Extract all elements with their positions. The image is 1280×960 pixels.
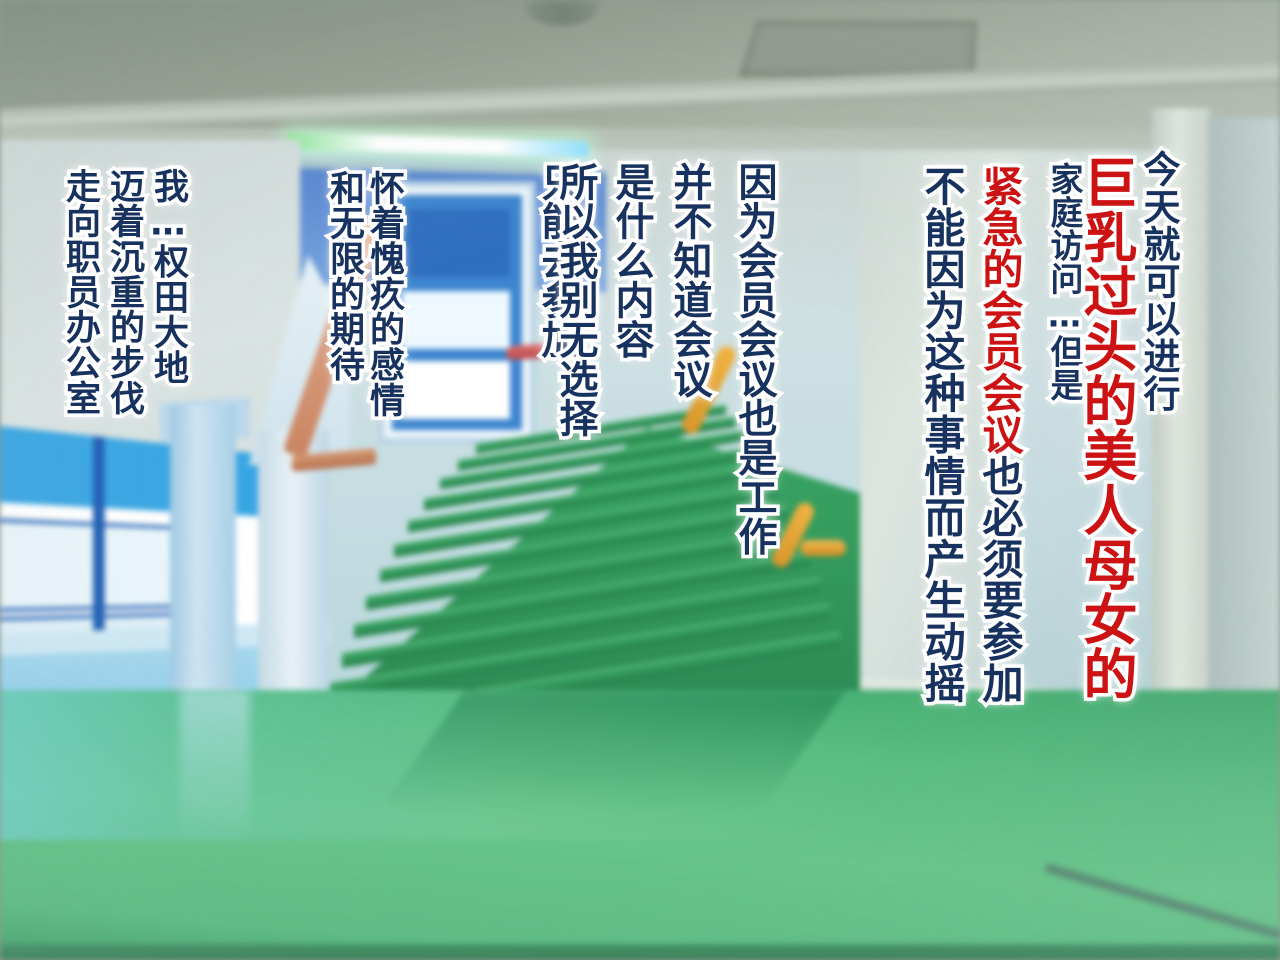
caption-d2-red: 紧急的会员会议 (975, 165, 1023, 455)
caption-column-e3: 今天就可以进行 (1140, 150, 1177, 412)
caption-column-d2: 紧急的会员会议也必须要参加 (978, 165, 1019, 703)
caption-column-d1: 不能因为这种事情而产生动摇 (920, 165, 961, 703)
caption-layer: 走向职员办公室 迈着沉重的步伐 我…权田大地 和无限的期待 怀着愧疚的感情 只能… (0, 0, 1280, 960)
scene-stage: 走向职员办公室 迈着沉重的步伐 我…权田大地 和无限的期待 怀着愧疚的感情 只能… (0, 0, 1280, 960)
caption-column-c3: 并不知道会议 (670, 162, 709, 398)
caption-column-a2: 迈着沉重的步伐 (106, 168, 141, 415)
caption-column-b1: 和无限的期待 (326, 170, 361, 382)
caption-column-a1: 走向职员办公室 (62, 168, 97, 415)
caption-column-a3: 我…权田大地 (150, 168, 185, 385)
caption-title-main: 巨乳过头的美人母女的 (1078, 155, 1132, 700)
caption-d2-navy: 也必须要参加 (975, 455, 1023, 703)
caption-column-c2: 是什么内容 (612, 162, 651, 359)
caption-column-b2: 怀着愧疚的感情 (366, 170, 401, 417)
caption-column-c4: 因为会员会议也是工作 (735, 162, 774, 556)
caption-column-c1: 所以我别无选择 (556, 162, 595, 438)
